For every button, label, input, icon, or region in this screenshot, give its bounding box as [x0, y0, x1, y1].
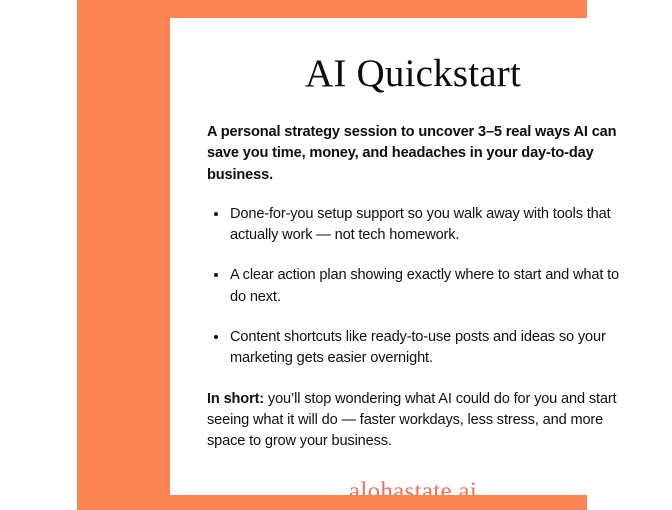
list-item: Done-for-you setup support so you walk a… — [207, 204, 619, 247]
summary-paragraph: In short: you’ll stop wondering what AI … — [207, 370, 619, 453]
page-title: AI Quickstart — [170, 18, 656, 95]
benefit-text: A clear action plan showing exactly wher… — [230, 267, 619, 304]
white-card-panel: AI Quickstart A personal strategy sessio… — [170, 18, 656, 495]
list-item: Content shortcuts like ready-to-use post… — [207, 327, 619, 370]
benefit-text: Done-for-you setup support so you walk a… — [230, 206, 611, 243]
benefits-list: Done-for-you setup support so you walk a… — [207, 186, 619, 370]
page-root: AI Quickstart A personal strategy sessio… — [0, 0, 672, 510]
brand-website-label: alohastate.ai — [207, 453, 619, 496]
intro-paragraph: A personal strategy session to uncover 3… — [207, 95, 619, 186]
bullet-dot-icon — [214, 273, 218, 277]
card-content-column: A personal strategy session to uncover 3… — [207, 95, 619, 495]
summary-body-text: you’ll stop wondering what AI could do f… — [207, 391, 616, 450]
list-item: A clear action plan showing exactly wher… — [207, 265, 619, 308]
orange-card-frame: AI Quickstart A personal strategy sessio… — [77, 0, 587, 510]
bullet-dot-icon — [214, 335, 218, 339]
benefit-text: Content shortcuts like ready-to-use post… — [230, 329, 606, 366]
summary-lead-label: In short: — [207, 391, 264, 407]
bullet-dot-icon — [214, 212, 218, 216]
